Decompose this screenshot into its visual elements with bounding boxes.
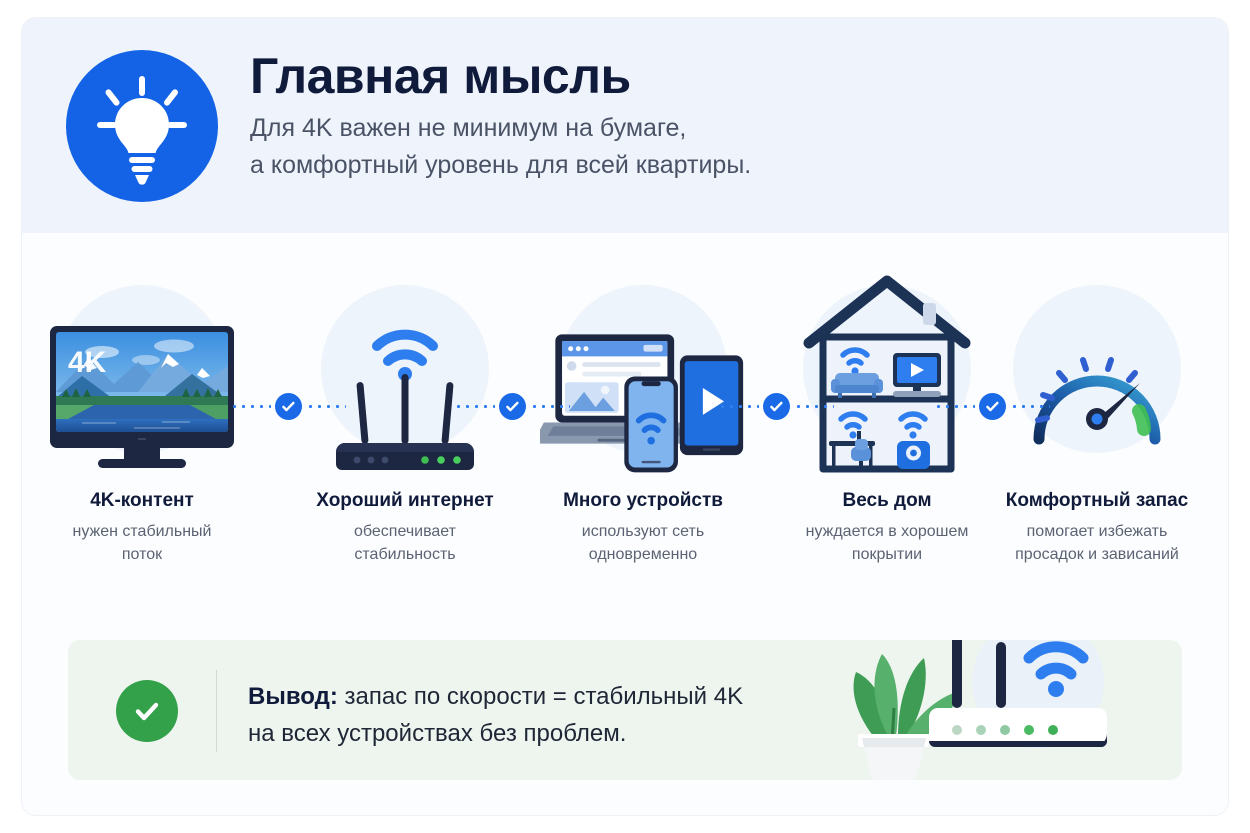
- infographic-page: Главная мысль Для 4K важен не минимум на…: [0, 0, 1250, 833]
- dotted-line: [934, 405, 975, 408]
- check-circle-icon: [116, 680, 178, 742]
- infographic-card: Главная мысль Для 4K важен не минимум на…: [22, 18, 1228, 815]
- divider: [216, 670, 217, 752]
- desc-line-1: нужен стабильный: [39, 521, 245, 544]
- connector-3: [718, 393, 834, 419]
- step-description: помогает избежать просадок и зависаний: [994, 521, 1200, 566]
- step-description: обеспечивает стабильность: [302, 521, 508, 566]
- header-band: Главная мысль Для 4K важен не минимум на…: [22, 18, 1228, 233]
- check-circle-icon: [499, 393, 526, 420]
- multi-devices-icon: [540, 263, 746, 478]
- connector-1: [230, 393, 346, 419]
- dotted-line: [1010, 405, 1051, 408]
- desc-line-1: используют сеть: [540, 521, 746, 544]
- lightbulb-icon: [66, 50, 218, 202]
- desc-line-2: просадок и зависаний: [994, 544, 1200, 567]
- check-circle-icon: [763, 393, 790, 420]
- dotted-line: [794, 405, 835, 408]
- step-description: используют сеть одновременно: [540, 521, 746, 566]
- desc-line-1: нуждается в хорошем: [784, 521, 990, 544]
- page-title: Главная мысль: [250, 48, 1170, 104]
- desc-line-1: обеспечивает: [302, 521, 508, 544]
- desc-line-1: помогает избежать: [994, 521, 1200, 544]
- subtitle-line-2: а комфортный уровень для всей квартиры.: [250, 147, 1170, 184]
- steps-row: 4K 4K-контент нужен стабильный поток: [22, 263, 1228, 613]
- step-title: Комфортный запас: [994, 490, 1200, 513]
- dotted-line: [230, 405, 271, 408]
- step-4k-content: 4K 4K-контент нужен стабильный поток: [39, 263, 245, 566]
- subtitle-line-1: Для 4K важен не минимум на бумаге,: [250, 110, 1170, 147]
- connector-4: [934, 393, 1050, 419]
- house-coverage-icon: [784, 263, 990, 478]
- desc-line-2: одновременно: [540, 544, 746, 567]
- conclusion-text: Вывод: запас по скорости = стабильный 4K…: [248, 678, 868, 753]
- conclusion-line-2: на всех устройствах без проблем.: [248, 720, 626, 747]
- tv-4k-icon: 4K: [39, 263, 245, 478]
- step-description: нужен стабильный поток: [39, 521, 245, 566]
- step-description: нуждается в хорошем покрытии: [784, 521, 990, 566]
- svg-text:4K: 4K: [68, 346, 107, 379]
- dotted-line: [306, 405, 347, 408]
- check-circle-icon: [275, 393, 302, 420]
- step-many-devices: Много устройств используют сеть одноврем…: [540, 263, 746, 566]
- step-title: 4K-контент: [39, 490, 245, 513]
- desc-line-2: поток: [39, 544, 245, 567]
- step-title: Хороший интернет: [302, 490, 508, 513]
- conclusion-label: Вывод:: [248, 683, 338, 710]
- desc-line-2: стабильность: [302, 544, 508, 567]
- dotted-line: [530, 405, 571, 408]
- dotted-line: [718, 405, 759, 408]
- dotted-line: [454, 405, 495, 408]
- conclusion-line-1: запас по скорости = стабильный 4K: [338, 683, 743, 710]
- page-subtitle: Для 4K важен не минимум на бумаге, а ком…: [250, 110, 1170, 184]
- step-title: Весь дом: [784, 490, 990, 513]
- conclusion-banner: Вывод: запас по скорости = стабильный 4K…: [68, 640, 1182, 780]
- check-circle-icon: [979, 393, 1006, 420]
- speedometer-icon: [994, 263, 1200, 478]
- desc-line-2: покрытии: [784, 544, 990, 567]
- header-text-block: Главная мысль Для 4K важен не минимум на…: [250, 48, 1170, 184]
- step-title: Много устройств: [540, 490, 746, 513]
- plant-and-router-icon: [826, 640, 1126, 780]
- connector-2: [454, 393, 570, 419]
- wifi-router-icon: [302, 263, 508, 478]
